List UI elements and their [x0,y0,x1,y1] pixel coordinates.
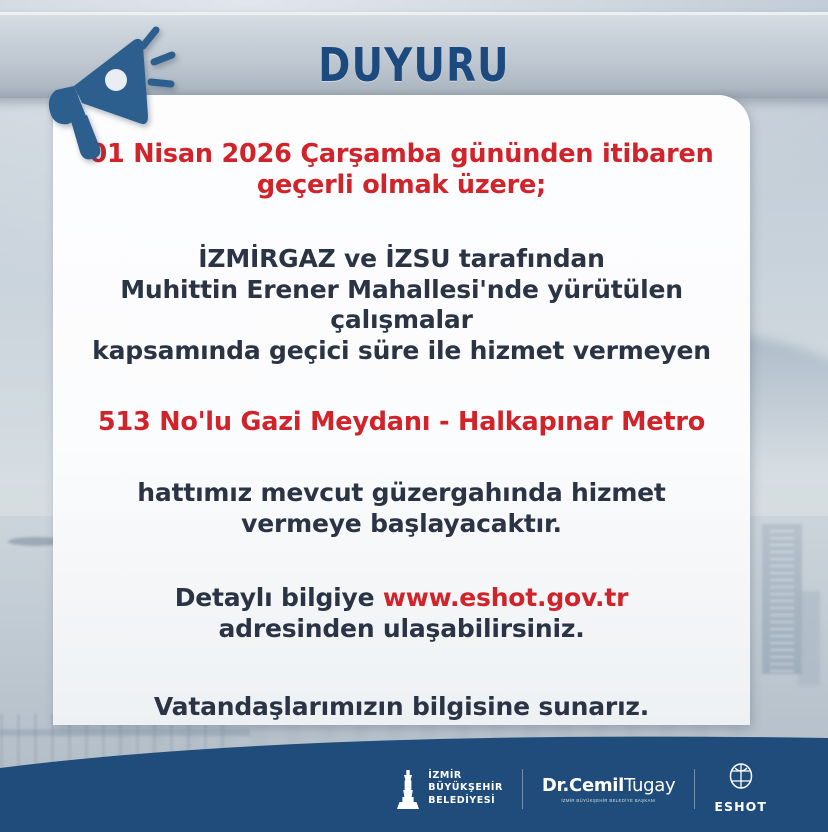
mayor-name: Dr.CemilTugay [542,775,676,796]
website-link[interactable]: www.eshot.gov.tr [383,583,628,612]
eshot-logo: ESHOT [695,763,786,814]
izmir-municipality-logo: İZMİR BÜYÜKŞEHİR BELEDİYESİ [376,768,522,810]
mayor-name-bold: Dr.Cemil [542,775,624,796]
megaphone-icon [30,24,176,160]
info-line-2: adresinden ulaşabilirsiniz. [67,614,736,645]
route-block: 513 No'lu Gazi Meydanı - Halkapınar Metr… [53,407,750,438]
background-skyscraper-secondary [798,591,820,686]
mayor-logo: Dr.CemilTugay İZMİR BÜYÜKŞEHİR BELEDİYE … [523,775,695,803]
mayor-subtitle: İZMİR BÜYÜKŞEHİR BELEDİYE BAŞKANI [542,798,676,803]
eshot-name: ESHOT [714,799,767,814]
mayor-name-thin: Tugay [624,775,675,796]
izmir-line-1: İZMİR [428,770,503,783]
eshot-monogram-icon [726,763,756,791]
izmir-line-2: BÜYÜKŞEHİR [428,782,503,795]
info-line-1: Detaylı bilgiye www.eshot.gov.tr [67,583,736,614]
body-line-1: İZMİRGAZ ve İZSU tarafından [67,244,736,275]
route-line: 513 No'lu Gazi Meydanı - Halkapınar Metr… [67,407,736,438]
eshot-logo-block: ESHOT [714,763,767,814]
info-block: Detaylı bilgiye www.eshot.gov.tr adresin… [53,583,750,644]
izmir-logo-text: İZMİR BÜYÜKŞEHİR BELEDİYESİ [428,770,503,808]
announcement-content: 01 Nisan 2026 Çarşamba gününden itibaren… [53,95,750,725]
date-line-2: geçerli olmak üzere; [67,170,736,201]
footer-logos: İZMİR BÜYÜKŞEHİR BELEDİYESİ Dr.CemilTuga… [376,763,786,814]
clock-tower-icon [395,768,421,810]
service-start-block: hattımız mevcut güzergahında hizmet verm… [53,478,750,539]
mayor-name-block: Dr.CemilTugay İZMİR BÜYÜKŞEHİR BELEDİYE … [542,775,676,803]
body-line-2: Muhittin Erener Mahallesi'nde yürütülen … [67,275,736,336]
service-start-line-2: vermeye başlayacaktır. [67,509,736,540]
service-start-line-1: hattımız mevcut güzergahında hizmet [67,478,736,509]
background-skyscraper [762,524,802,674]
izmir-line-3: BELEDİYESİ [428,795,503,808]
body-line-3: kapsamında geçici süre ile hizmet vermey… [67,336,736,367]
announcement-poster: DUYURU 01 Nisan 2026 Çarşamba gününden i… [0,0,828,832]
info-prefix: Detaylı bilgiye [175,583,383,612]
body-block: İZMİRGAZ ve İZSU tarafından Muhittin Ere… [53,244,750,366]
